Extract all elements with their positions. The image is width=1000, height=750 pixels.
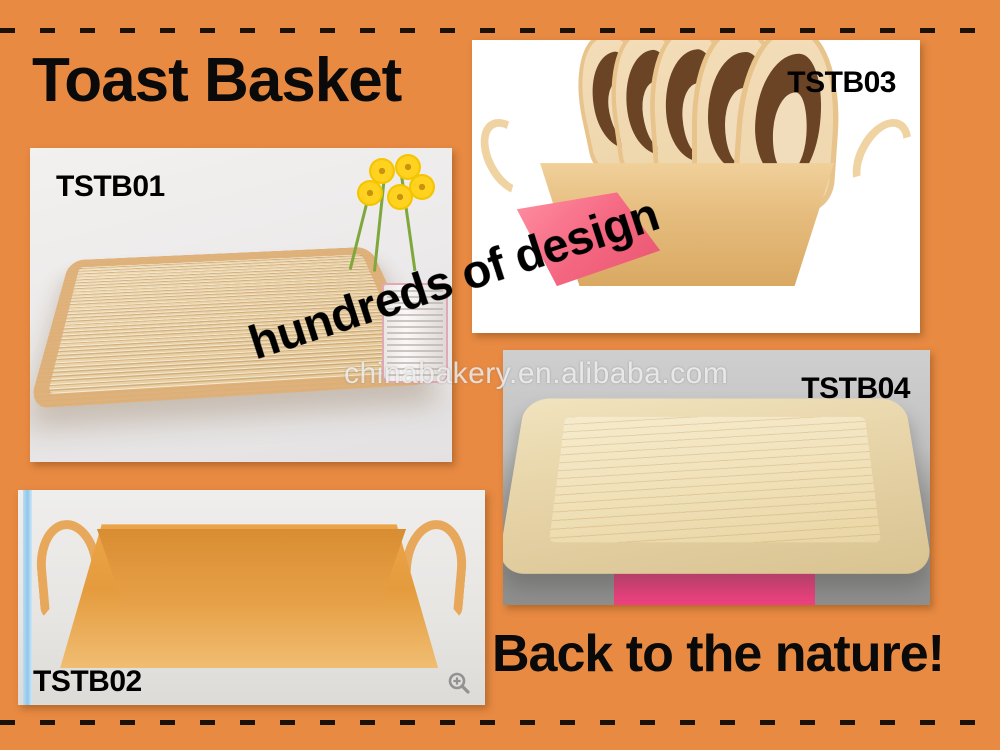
sku-label-tstb03: TSTB03 (787, 68, 896, 98)
tagline: Back to the nature! (492, 628, 944, 680)
product-card-tstb04[interactable]: TSTB04 (503, 350, 930, 605)
blue-edge-strip (23, 490, 32, 705)
basket-handle-right (840, 109, 920, 205)
basket-handle-left (472, 109, 552, 205)
page-title: Toast Basket (32, 50, 401, 112)
product-card-tstb03[interactable]: TSTB03 (472, 40, 920, 333)
flower-bouquet (347, 154, 444, 302)
product-card-tstb02[interactable]: TSTB02 (18, 490, 485, 705)
sku-label-tstb04: TSTB04 (801, 374, 910, 404)
sku-label-tstb02: TSTB02 (33, 667, 142, 697)
wooden-board (548, 417, 880, 542)
sku-label-tstb01: TSTB01 (56, 172, 165, 202)
basket-interior (83, 529, 419, 606)
promotional-banner: Toast Basket (0, 0, 1000, 750)
dashed-divider-top (0, 28, 1000, 33)
product-card-tstb01[interactable]: TSTB01 (30, 148, 452, 462)
vase (382, 283, 448, 383)
rattan-tray (503, 399, 930, 574)
zoom-in-icon[interactable] (447, 671, 471, 695)
dashed-divider-bottom (0, 720, 1000, 725)
